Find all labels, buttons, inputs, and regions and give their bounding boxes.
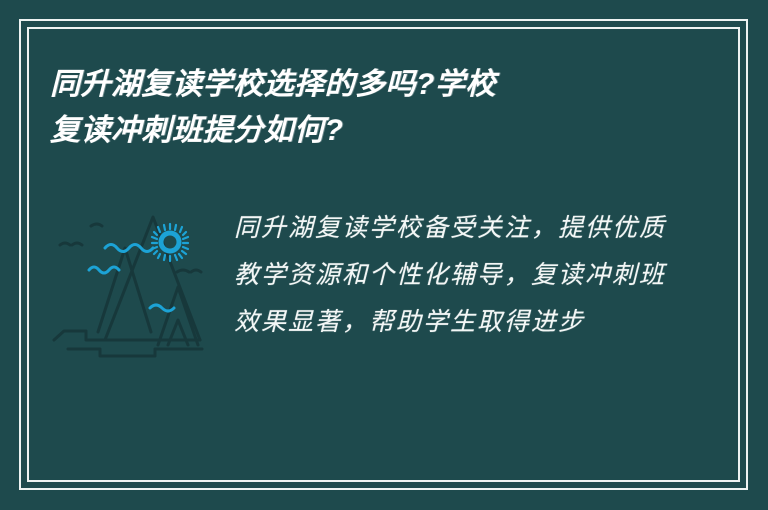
snowline-medium (89, 267, 119, 273)
cloud-dash-5 (191, 270, 201, 272)
title-line-2: 复读冲刺班提分如何? (50, 108, 670, 154)
ground-lines (54, 331, 202, 356)
content-row: 同升湖复读学校备受关注，提供优质教学资源和个性化辅导，复读冲刺班效果显著，帮助学… (50, 190, 690, 370)
cloud-dash-3 (72, 243, 82, 245)
cloud-dash-4 (177, 270, 189, 272)
snowline-large (105, 245, 153, 252)
page-title: 同升湖复读学校选择的多吗?学校 复读冲刺班提分如何? (50, 62, 670, 154)
body-paragraph: 同升湖复读学校备受关注，提供优质教学资源和个性化辅导，复读冲刺班效果显著，帮助学… (234, 190, 666, 345)
mountain-large (105, 217, 200, 340)
poster-canvas: 同升湖复读学校选择的多吗?学校 复读冲刺班提分如何? (0, 0, 768, 510)
cloud-dash-1 (91, 224, 102, 226)
mountains-with-sun-illustration (50, 190, 220, 370)
title-line-1: 同升湖复读学校选择的多吗?学校 (50, 62, 670, 108)
cloud-dash-2 (60, 243, 70, 245)
